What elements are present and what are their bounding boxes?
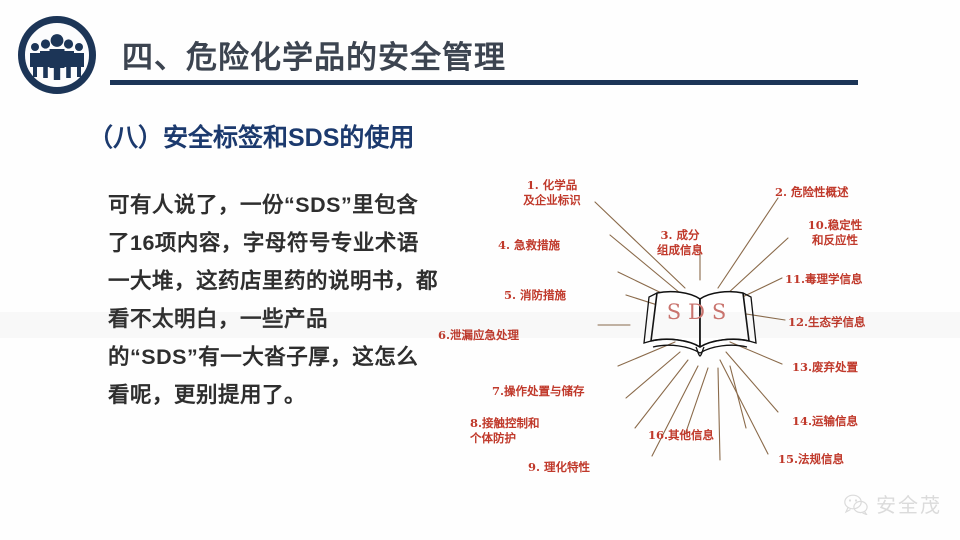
diagram-label-4: 4. 急救措施: [498, 238, 588, 253]
diagram-label-14: 14.运输信息: [792, 414, 892, 429]
diagram-label-16: 16.其他信息: [648, 428, 748, 443]
header-divider: [110, 80, 858, 85]
diagram-label-6-line-1: 6.泄漏应急处理: [438, 328, 538, 343]
diagram-label-11: 11.毒理学信息: [785, 272, 885, 287]
diagram-label-12-line-1: 12.生态学信息: [788, 315, 888, 330]
diagram-label-8-line-2: 个体防护: [470, 431, 560, 446]
diagram-label-8-line-1: 8.接触控制和: [470, 416, 560, 431]
corner-watermark: 安全茂: [843, 489, 942, 518]
diagram-label-12: 12.生态学信息: [788, 315, 888, 330]
diagram-label-1-line-2: 及企业标识: [502, 193, 602, 208]
logo-badge: [18, 16, 96, 94]
diagram-label-7: 7.操作处置与储存: [492, 384, 602, 399]
wechat-icon: [843, 493, 869, 515]
diagram-label-15-line-1: 15.法规信息: [778, 452, 878, 467]
diagram-label-2: 2. 危险性概述: [775, 185, 875, 200]
book-label: SDS: [635, 300, 765, 324]
diagram-label-7-line-1: 7.操作处置与储存: [492, 384, 602, 399]
diagram-label-1: 1. 化学品及企业标识: [502, 178, 602, 208]
diagram-label-10-line-2: 和反应性: [792, 233, 878, 248]
people-group-icon: [25, 23, 89, 87]
diagram-label-8: 8.接触控制和个体防护: [470, 416, 560, 446]
page-title: 四、危险化学品的安全管理: [122, 32, 506, 77]
diagram-label-1-line-1: 1. 化学品: [502, 178, 602, 193]
diagram-label-5-line-1: 5. 消防措施: [504, 288, 594, 303]
diagram-label-9: 9. 理化特性: [528, 460, 618, 475]
diagram-label-5: 5. 消防措施: [504, 288, 594, 303]
diagram-label-11-line-1: 11.毒理学信息: [785, 272, 885, 287]
diagram-label-13-line-1: 13.废弃处置: [792, 360, 892, 375]
watermark-label: 安全茂: [876, 489, 942, 518]
diagram-label-3-line-2: 组成信息: [635, 243, 725, 258]
diagram-label-3-line-1: 3. 成分: [635, 228, 725, 243]
diagram-label-3: 3. 成分组成信息: [635, 228, 725, 258]
diagram-label-9-line-1: 9. 理化特性: [528, 460, 618, 475]
diagram-label-10: 10.稳定性和反应性: [792, 218, 878, 248]
body-paragraph: 可有人说了，一份“SDS”里包含了16项内容，字母符号专业术语一大堆，这药店里药…: [108, 186, 438, 414]
diagram-label-2-line-1: 2. 危险性概述: [775, 185, 875, 200]
diagram-label-10-line-1: 10.稳定性: [792, 218, 878, 233]
section-subtitle: （八）安全标签和SDS的使用: [88, 118, 414, 154]
diagram-label-15: 15.法规信息: [778, 452, 878, 467]
diagram-label-4-line-1: 4. 急救措施: [498, 238, 588, 253]
diagram-label-14-line-1: 14.运输信息: [792, 414, 892, 429]
diagram-label-6: 6.泄漏应急处理: [438, 328, 538, 343]
diagram-label-16-line-1: 16.其他信息: [648, 428, 748, 443]
diagram-label-13: 13.废弃处置: [792, 360, 892, 375]
slide-header: 四、危险化学品的安全管理: [0, 0, 960, 100]
sds-radial-diagram: SDS 1. 化学品及企业标识2. 危险性概述3. 成分组成信息4. 急救措施5…: [430, 160, 960, 500]
